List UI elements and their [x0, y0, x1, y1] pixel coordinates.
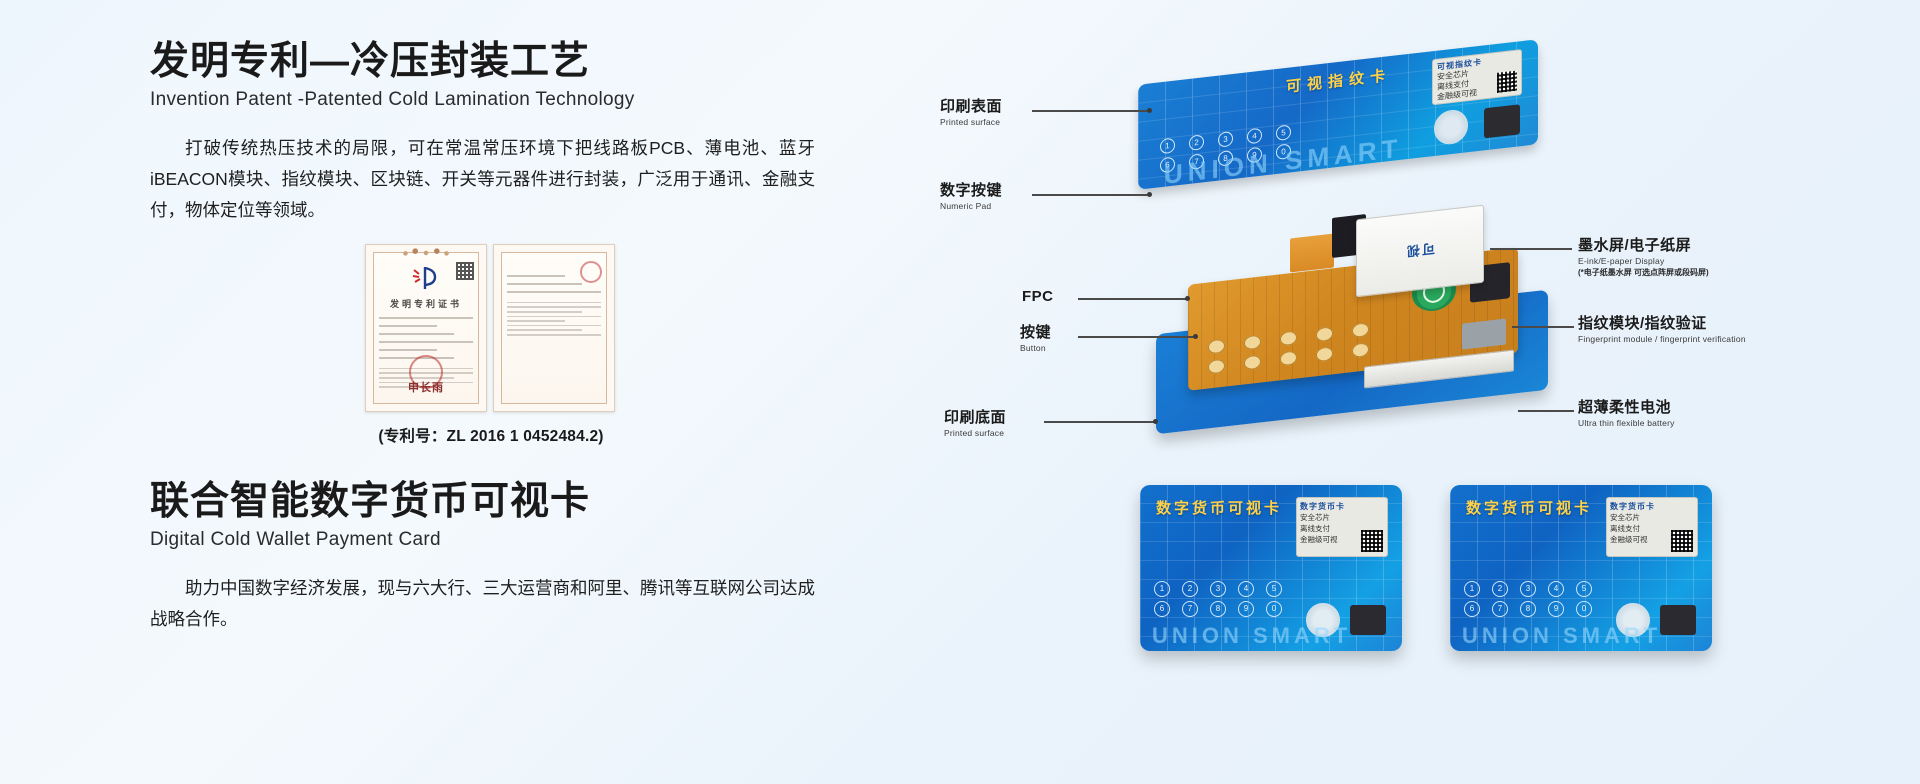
key: 9 — [1238, 601, 1254, 617]
key: 3 — [1218, 131, 1233, 148]
certificate-right — [493, 244, 615, 412]
label-en: Ultra thin flexible battery — [1578, 418, 1675, 428]
label-note: (*电子纸墨水屏 可选点阵屏或段码屏) — [1578, 267, 1709, 278]
certificate-images: 发明专利证书 申长雨 — [365, 244, 840, 412]
key: 2 — [1492, 581, 1508, 597]
label-cn: 墨水屏/电子纸屏 — [1578, 234, 1709, 255]
key: 7 — [1492, 601, 1508, 617]
label-cn: FPC — [1022, 288, 1054, 305]
label-en: E-ink/E-paper Display — [1578, 256, 1709, 266]
key: 5 — [1266, 581, 1282, 597]
leader-eink — [1490, 248, 1572, 250]
key: 4 — [1247, 128, 1262, 145]
leader-fpc — [1078, 298, 1188, 300]
exploded-card-view: 可视 可视指纹卡 可视指纹卡 安全芯片 离线支付 金融级可视 1 2 3 4 5 — [1120, 40, 1590, 460]
leader-printed-bottom — [1044, 421, 1156, 423]
wallet-body-text: 助力中国数字经济发展，现与六大行、三大运营商和阿里、腾讯等互联网公司达成战略合作… — [150, 573, 815, 635]
patent-number: (专利号：ZL 2016 1 0452484.2) — [365, 424, 617, 446]
key: 6 — [1154, 601, 1170, 617]
page-root: 发明专利—冷压封装工艺 Invention Patent -Patented C… — [0, 0, 1920, 784]
key: 5 — [1276, 124, 1291, 141]
key: 8 — [1210, 601, 1226, 617]
label-en: Printed surface — [940, 117, 1002, 127]
card-qr-icon — [1361, 530, 1383, 552]
key: 5 — [1576, 581, 1592, 597]
card-screen-line-1: 安全芯片 — [1300, 512, 1384, 523]
certificate-left: 发明专利证书 申长雨 — [365, 244, 487, 412]
certificate-title: 发明专利证书 — [366, 297, 486, 310]
key: 0 — [1576, 601, 1592, 617]
key: 2 — [1182, 581, 1198, 597]
card-numeric-keypad: 1 2 3 4 5 6 7 8 9 0 — [1154, 581, 1288, 617]
leader-button — [1078, 336, 1196, 338]
card-numeric-keypad: 1 2 3 4 5 6 7 8 9 0 — [1464, 581, 1598, 617]
label-cn: 超薄柔性电池 — [1578, 396, 1675, 417]
key: 3 — [1210, 581, 1226, 597]
certificate-body-lines-2 — [507, 275, 601, 339]
label-en: Printed surface — [944, 428, 1006, 438]
key: 9 — [1548, 601, 1564, 617]
label-cn: 指纹模块/指纹验证 — [1578, 312, 1746, 333]
certificate-signature: 申长雨 — [408, 379, 444, 395]
card-brand-label: 数字货币可视卡 — [1156, 497, 1282, 518]
key: 7 — [1182, 601, 1198, 617]
page-title: 发明专利—冷压封装工艺 — [150, 40, 840, 85]
left-content-column: 发明专利—冷压封装工艺 Invention Patent -Patented C… — [150, 40, 840, 635]
label-numeric-pad: 数字按键 Numeric Pad — [940, 179, 1002, 211]
label-cn: 印刷底面 — [944, 406, 1006, 427]
card-fingerprint-icon — [1350, 605, 1386, 635]
leader-fingerprint — [1512, 326, 1574, 328]
patent-emblem-icon — [411, 265, 441, 291]
key: 2 — [1189, 134, 1204, 151]
card-union-text: UNION SMART — [1152, 623, 1351, 649]
qr-code-icon — [456, 262, 474, 280]
card-screen-area: 数字货币卡 安全芯片 离线支付 金融级可视 — [1606, 497, 1698, 557]
label-en: Numeric Pad — [940, 201, 1002, 211]
card-qr-icon — [1671, 530, 1693, 552]
card-fingerprint-icon — [1660, 605, 1696, 635]
card-union-text: UNION SMART — [1462, 623, 1661, 649]
label-printed-surface: 印刷表面 Printed surface — [940, 95, 1002, 127]
label-fingerprint-module: 指纹模块/指纹验证 Fingerprint module / fingerpri… — [1578, 312, 1746, 344]
label-flexible-battery: 超薄柔性电池 Ultra thin flexible battery — [1578, 396, 1675, 428]
card-screen-title: 数字货币卡 — [1610, 501, 1694, 512]
label-en: Fingerprint module / fingerprint verific… — [1578, 334, 1746, 344]
eink-display-layer: 可视 — [1356, 205, 1484, 298]
eink-display-text: 可视 — [1405, 240, 1435, 262]
label-fpc: FPC — [1022, 288, 1054, 305]
leader-printed-surface — [1032, 110, 1150, 112]
key: 0 — [1266, 601, 1282, 617]
key: 4 — [1238, 581, 1254, 597]
label-cn: 印刷表面 — [940, 95, 1002, 116]
page-subtitle-en: Invention Patent -Patented Cold Laminati… — [150, 89, 840, 111]
key: 4 — [1548, 581, 1564, 597]
label-printed-bottom: 印刷底面 Printed surface — [944, 406, 1006, 438]
leader-numeric-pad — [1032, 194, 1150, 196]
wallet-subtitle-en: Digital Cold Wallet Payment Card — [150, 529, 840, 551]
fpc-ribbon — [1290, 233, 1334, 272]
card-screen-title: 数字货币卡 — [1300, 501, 1384, 512]
label-cn: 按键 — [1020, 321, 1051, 342]
label-cn: 数字按键 — [940, 179, 1002, 200]
key: 8 — [1520, 601, 1536, 617]
battery-contact-block — [1462, 319, 1506, 350]
section-patent: 发明专利—冷压封装工艺 Invention Patent -Patented C… — [150, 40, 840, 446]
label-eink-display: 墨水屏/电子纸屏 E-ink/E-paper Display (*电子纸墨水屏 … — [1578, 234, 1709, 278]
card-screen-line-1: 安全芯片 — [1610, 512, 1694, 523]
key: 3 — [1520, 581, 1536, 597]
key: 6 — [1464, 601, 1480, 617]
card-fingerprint-icon — [1484, 104, 1520, 138]
product-diagram: 可视 可视指纹卡 可视指纹卡 安全芯片 离线支付 金融级可视 1 2 3 4 5 — [1120, 40, 1910, 760]
section-wallet: 联合智能数字货币可视卡 Digital Cold Wallet Payment … — [150, 480, 840, 635]
patent-body-text: 打破传统热压技术的局限，可在常温常压环境下把线路板PCB、薄电池、蓝牙iBEAC… — [150, 133, 815, 226]
key: 1 — [1464, 581, 1480, 597]
product-card-1: 数字货币可视卡 数字货币卡 安全芯片 离线支付 金融级可视 1 2 3 4 5 … — [1140, 485, 1402, 651]
product-card-2: 数字货币可视卡 数字货币卡 安全芯片 离线支付 金融级可视 1 2 3 4 5 … — [1450, 485, 1712, 651]
label-button: 按键 Button — [1020, 321, 1051, 353]
card-brand-label: 数字货币可视卡 — [1466, 497, 1592, 518]
card-screen-area: 数字货币卡 安全芯片 离线支付 金融级可视 — [1296, 497, 1388, 557]
key: 1 — [1160, 138, 1175, 155]
card-qr-icon — [1497, 71, 1517, 93]
key: 1 — [1154, 581, 1170, 597]
label-en: Button — [1020, 343, 1051, 353]
card-top-layer: 可视指纹卡 可视指纹卡 安全芯片 离线支付 金融级可视 1 2 3 4 5 6 … — [1138, 39, 1538, 190]
ornament-icon — [399, 248, 453, 257]
leader-battery — [1518, 410, 1574, 412]
wallet-title: 联合智能数字货币可视卡 — [150, 480, 840, 525]
